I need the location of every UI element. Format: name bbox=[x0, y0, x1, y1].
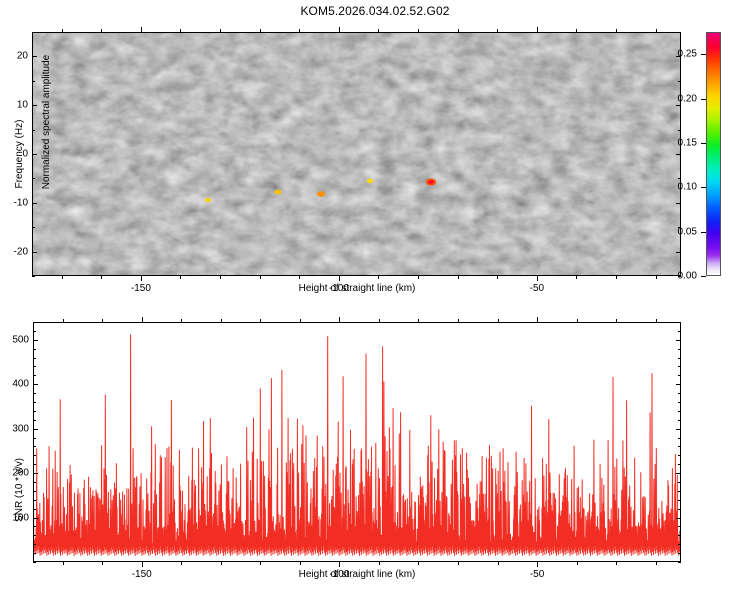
xtick-top bbox=[537, 27, 538, 32]
ytick-right bbox=[678, 130, 681, 131]
ytick-right bbox=[678, 411, 681, 412]
xtick-minor bbox=[458, 276, 459, 279]
colorbar-ticklabel: 0.20 bbox=[678, 93, 697, 104]
ytick-major bbox=[33, 473, 38, 474]
xtick-top bbox=[62, 29, 63, 32]
xtick-minor bbox=[418, 276, 419, 279]
ytick-right bbox=[678, 500, 681, 501]
ytick-right bbox=[676, 203, 681, 204]
xtick-top bbox=[458, 319, 459, 322]
snr-xticklabel: -150 bbox=[132, 569, 152, 580]
ytick-right bbox=[678, 420, 681, 421]
ytick-right bbox=[678, 455, 681, 456]
ytick-minor bbox=[33, 366, 36, 367]
xtick-top bbox=[339, 317, 340, 322]
ytick-right bbox=[676, 105, 681, 106]
xtick-major bbox=[141, 276, 142, 281]
ytick-minor bbox=[32, 81, 35, 82]
snr-trace-svg bbox=[33, 322, 681, 562]
xtick-top bbox=[576, 29, 577, 32]
xtick-top bbox=[339, 27, 340, 32]
xtick-minor bbox=[379, 562, 380, 565]
spectrogram-xticklabel: -150 bbox=[131, 283, 151, 294]
ytick-minor bbox=[33, 402, 36, 403]
xtick-major bbox=[537, 562, 538, 567]
xtick-top bbox=[379, 319, 380, 322]
xtick-top bbox=[577, 319, 578, 322]
ytick-right bbox=[676, 384, 681, 385]
colorbar-tick bbox=[701, 99, 706, 100]
colorbar-tick bbox=[701, 276, 706, 277]
xtick-major bbox=[339, 276, 340, 281]
ytick-right bbox=[678, 178, 681, 179]
spectrogram-yaxis-label: Frequency (Hz) bbox=[14, 120, 25, 189]
xtick-top bbox=[458, 29, 459, 32]
xtick-top bbox=[180, 29, 181, 32]
ytick-right bbox=[678, 393, 681, 394]
colorbar-ticklabel: 0.00 bbox=[678, 271, 697, 282]
xtick-minor bbox=[180, 276, 181, 279]
ytick-right bbox=[678, 32, 681, 33]
spectrogram-xaxis-label: Height of straight line (km) bbox=[299, 283, 416, 294]
xtick-minor bbox=[101, 276, 102, 279]
xtick-top bbox=[142, 317, 143, 322]
xtick-minor bbox=[576, 276, 577, 279]
colorbar-tick bbox=[701, 54, 706, 55]
xtick-top bbox=[141, 27, 142, 32]
xtick-minor bbox=[577, 562, 578, 565]
ytick-right bbox=[678, 544, 681, 545]
ytick-major bbox=[32, 56, 37, 57]
ytick-minor bbox=[33, 358, 36, 359]
xtick-minor bbox=[260, 276, 261, 279]
colorbar[interactable] bbox=[706, 32, 721, 276]
xtick-top bbox=[181, 319, 182, 322]
xtick-minor bbox=[458, 562, 459, 565]
ytick-right bbox=[678, 482, 681, 483]
ytick-right bbox=[676, 340, 681, 341]
xtick-top bbox=[260, 319, 261, 322]
ytick-right bbox=[678, 322, 681, 323]
ytick-right bbox=[678, 491, 681, 492]
colorbar-gradient-strip bbox=[706, 32, 721, 276]
xtick-minor bbox=[616, 276, 617, 279]
ytick-minor bbox=[32, 32, 35, 33]
snr-yticklabel: 300 bbox=[3, 423, 29, 434]
ytick-minor bbox=[33, 420, 36, 421]
xtick-minor bbox=[102, 562, 103, 565]
spectrogram-color-layers bbox=[32, 32, 681, 276]
snr-yticklabel: 400 bbox=[3, 379, 29, 390]
ytick-right bbox=[678, 331, 681, 332]
xtick-minor bbox=[220, 276, 221, 279]
ytick-minor bbox=[33, 535, 36, 536]
ytick-minor bbox=[33, 393, 36, 394]
ytick-right bbox=[678, 464, 681, 465]
ytick-right bbox=[676, 518, 681, 519]
ytick-right bbox=[678, 535, 681, 536]
xtick-top bbox=[418, 319, 419, 322]
ytick-right bbox=[678, 438, 681, 439]
xtick-minor bbox=[181, 562, 182, 565]
xtick-minor bbox=[63, 562, 64, 565]
xtick-top bbox=[378, 29, 379, 32]
spectrogram-yticklabel: 10 bbox=[6, 100, 28, 111]
ytick-minor bbox=[33, 509, 36, 510]
xtick-top bbox=[299, 29, 300, 32]
ytick-minor bbox=[33, 491, 36, 492]
colorbar-ticklabel: 0.05 bbox=[678, 226, 697, 237]
ytick-minor bbox=[32, 227, 35, 228]
ytick-minor bbox=[32, 130, 35, 131]
colorbar-ticklabel: 0.25 bbox=[678, 49, 697, 60]
ytick-major bbox=[33, 429, 38, 430]
ytick-major bbox=[33, 384, 38, 385]
ytick-right bbox=[676, 429, 681, 430]
snr-yticklabel: 500 bbox=[3, 334, 29, 345]
ytick-right bbox=[678, 81, 681, 82]
xtick-top bbox=[656, 29, 657, 32]
xtick-top bbox=[221, 319, 222, 322]
ytick-minor bbox=[33, 544, 36, 545]
ytick-right bbox=[678, 375, 681, 376]
ytick-right bbox=[676, 154, 681, 155]
ytick-minor bbox=[33, 446, 36, 447]
ytick-minor bbox=[33, 322, 36, 323]
ytick-minor bbox=[33, 349, 36, 350]
colorbar-label: Normalized spectral amplitude bbox=[41, 55, 52, 190]
xtick-top bbox=[220, 29, 221, 32]
xtick-top bbox=[300, 319, 301, 322]
colorbar-tick bbox=[701, 187, 706, 188]
xtick-minor bbox=[616, 562, 617, 565]
xtick-minor bbox=[221, 562, 222, 565]
ytick-minor bbox=[33, 411, 36, 412]
ytick-major bbox=[33, 518, 38, 519]
snr-xticklabel: -50 bbox=[530, 569, 544, 580]
ytick-minor bbox=[33, 562, 36, 563]
xtick-top bbox=[656, 319, 657, 322]
ytick-major bbox=[32, 252, 37, 253]
snr-plot-area[interactable] bbox=[33, 322, 681, 562]
ytick-minor bbox=[33, 464, 36, 465]
colorbar-tick bbox=[701, 232, 706, 233]
xtick-top bbox=[101, 29, 102, 32]
xtick-minor bbox=[656, 562, 657, 565]
xtick-minor bbox=[498, 562, 499, 565]
snr-yaxis-label: SNR (10 * v/v) bbox=[14, 458, 25, 522]
ytick-minor bbox=[33, 500, 36, 501]
ytick-right bbox=[676, 473, 681, 474]
xtick-top bbox=[616, 319, 617, 322]
xtick-top bbox=[63, 319, 64, 322]
spectrogram-xticklabel: -50 bbox=[530, 283, 544, 294]
colorbar-tick bbox=[701, 143, 706, 144]
spectrogram-yticklabel: 20 bbox=[6, 51, 28, 62]
ytick-major bbox=[33, 340, 38, 341]
colorbar-ticklabel: 0.15 bbox=[678, 137, 697, 148]
xtick-minor bbox=[299, 276, 300, 279]
xtick-top bbox=[260, 29, 261, 32]
xtick-top bbox=[537, 317, 538, 322]
xtick-minor bbox=[656, 276, 657, 279]
ytick-right bbox=[678, 562, 681, 563]
ytick-minor bbox=[33, 526, 36, 527]
xtick-minor bbox=[497, 276, 498, 279]
ytick-minor bbox=[33, 438, 36, 439]
ytick-minor bbox=[32, 276, 35, 277]
ytick-right bbox=[678, 402, 681, 403]
xtick-top bbox=[616, 29, 617, 32]
ytick-minor bbox=[33, 455, 36, 456]
xtick-minor bbox=[378, 276, 379, 279]
xtick-minor bbox=[300, 562, 301, 565]
ytick-right bbox=[676, 252, 681, 253]
ytick-minor bbox=[33, 482, 36, 483]
xtick-minor bbox=[418, 562, 419, 565]
xtick-minor bbox=[62, 276, 63, 279]
ytick-right bbox=[678, 509, 681, 510]
ytick-minor bbox=[32, 178, 35, 179]
ytick-minor bbox=[33, 553, 36, 554]
ytick-major bbox=[32, 203, 37, 204]
snr-xaxis-label: Height of straight line (km) bbox=[299, 569, 416, 580]
ytick-right bbox=[678, 553, 681, 554]
spectrogram-yticklabel: -10 bbox=[6, 197, 28, 208]
xtick-top bbox=[418, 29, 419, 32]
spectrogram-yticklabel: -20 bbox=[6, 246, 28, 257]
page-title: KOM5.2026.034.02.52.G02 bbox=[0, 4, 750, 18]
xtick-major bbox=[537, 276, 538, 281]
ytick-right bbox=[678, 526, 681, 527]
ytick-right bbox=[678, 366, 681, 367]
ytick-right bbox=[678, 446, 681, 447]
ytick-right bbox=[678, 349, 681, 350]
ytick-major bbox=[32, 154, 37, 155]
xtick-minor bbox=[260, 562, 261, 565]
xtick-top bbox=[102, 319, 103, 322]
xtick-major bbox=[339, 562, 340, 567]
xtick-major bbox=[142, 562, 143, 567]
spectrogram-plot-area[interactable] bbox=[32, 32, 681, 276]
xtick-top bbox=[497, 29, 498, 32]
ytick-minor bbox=[33, 331, 36, 332]
ytick-right bbox=[678, 358, 681, 359]
ytick-minor bbox=[33, 375, 36, 376]
colorbar-ticklabel: 0.10 bbox=[678, 182, 697, 193]
ytick-major bbox=[32, 105, 37, 106]
xtick-top bbox=[498, 319, 499, 322]
